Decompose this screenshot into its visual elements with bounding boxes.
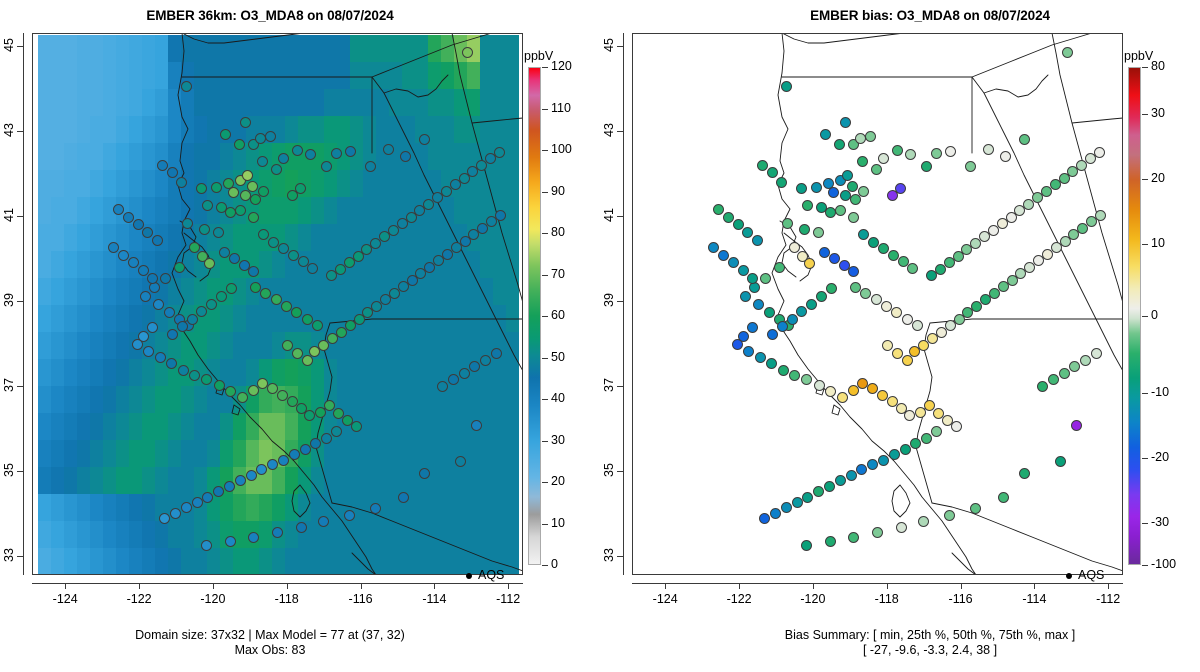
station-marker-bias [921, 161, 932, 172]
station-marker-bias [1059, 368, 1070, 379]
y-tick-label: 35 [602, 453, 616, 487]
station-marker-bias [781, 81, 792, 92]
station-marker-bias [998, 492, 1009, 503]
station-marker-bias [892, 145, 903, 156]
station-marker-bias [732, 339, 743, 350]
station-marker [256, 464, 267, 475]
station-marker [271, 294, 282, 305]
station-marker-bias [846, 470, 857, 481]
station-marker-bias [718, 250, 729, 261]
y-tick-label: 35 [2, 453, 16, 487]
colorbar-tick-label: -20 [1151, 450, 1169, 464]
colorbar-tick [542, 192, 548, 193]
station-marker-bias [902, 355, 913, 366]
colorbar-tick-label: 90 [551, 184, 565, 198]
colorbar-tick-label: 80 [1151, 59, 1165, 73]
station-marker-bias [1080, 355, 1091, 366]
station-marker [167, 329, 178, 340]
station-marker [177, 321, 188, 332]
station-marker [166, 358, 177, 369]
colorbar-tick-label: 100 [551, 142, 572, 156]
station-marker [400, 151, 411, 162]
y-tick-label: 45 [602, 28, 616, 62]
colorbar-tick [542, 524, 548, 525]
colorbar-tick-label: 60 [551, 308, 565, 322]
station-marker [225, 386, 236, 397]
colorbar-tick-label: 50 [551, 350, 565, 364]
station-marker [383, 144, 394, 155]
station-marker-bias [1095, 210, 1106, 221]
station-marker [321, 161, 332, 172]
station-marker [118, 250, 129, 261]
station-marker [235, 475, 246, 486]
colorbar-tick [1142, 393, 1148, 394]
station-marker [248, 212, 259, 223]
station-marker-bias [806, 299, 817, 310]
colorbar-tick-label: 30 [1151, 106, 1165, 120]
station-marker [345, 146, 356, 157]
station-marker-bias [1019, 468, 1030, 479]
station-marker-bias [776, 177, 787, 188]
station-marker-bias [792, 497, 803, 508]
station-marker-bias [742, 227, 753, 238]
model-map-plot[interactable] [32, 33, 523, 575]
station-marker-bias [881, 301, 892, 312]
station-marker [471, 420, 482, 431]
station-marker-bias [1037, 381, 1048, 392]
station-marker-bias [983, 144, 994, 155]
colorbar-tick [1142, 114, 1148, 115]
x-tick-label: -124 [45, 592, 85, 606]
station-marker [160, 273, 171, 284]
x-tick-label: -122 [719, 592, 759, 606]
x-tick-label: -112 [488, 592, 528, 606]
station-marker-bias [905, 149, 916, 160]
x-tick-label: -118 [867, 592, 907, 606]
station-marker [192, 497, 203, 508]
colorbar-units-label-bias: ppbV [1124, 49, 1153, 63]
station-marker-bias [848, 532, 859, 543]
station-marker-bias [747, 322, 758, 333]
station-marker-bias [813, 227, 824, 238]
station-marker [295, 183, 306, 194]
station-marker [189, 242, 200, 253]
station-marker-bias [951, 421, 962, 432]
station-marker-bias [738, 265, 749, 276]
station-marker-bias [804, 258, 815, 269]
colorbar-tick-label: 20 [1151, 171, 1165, 185]
x-tick-label: -120 [193, 592, 233, 606]
colorbar-tick-label: 30 [551, 433, 565, 447]
aqs-legend-dot-bias [1066, 573, 1072, 579]
station-marker-bias [820, 129, 831, 140]
station-marker [128, 257, 139, 268]
station-marker-bias [848, 212, 859, 223]
station-marker-bias [889, 449, 900, 460]
y-tick-label: 33 [2, 538, 16, 572]
station-marker-bias [816, 291, 827, 302]
colorbar-units-label: ppbV [524, 49, 553, 63]
station-marker-bias [865, 131, 876, 142]
station-marker [437, 381, 448, 392]
station-marker [202, 200, 213, 211]
station-marker [304, 410, 315, 421]
station-marker [271, 164, 282, 175]
station-marker-bias [814, 380, 825, 391]
station-marker-bias [835, 475, 846, 486]
model-caption-line1: Domain size: 37x32 | Max Model = 77 at (… [0, 628, 540, 643]
station-marker-bias [782, 218, 793, 229]
colorbar-tick [542, 67, 548, 68]
station-marker [123, 212, 134, 223]
colorbar-tick-label: 80 [551, 225, 565, 239]
station-marker-bias [747, 273, 758, 284]
station-marker [235, 205, 246, 216]
station-marker [159, 513, 170, 524]
station-marker-bias [825, 536, 836, 547]
station-marker-bias [757, 160, 768, 171]
station-marker-bias [778, 365, 789, 376]
x-tick-label: -118 [267, 592, 307, 606]
aqs-legend-dot [466, 573, 472, 579]
colorbar-tick [542, 358, 548, 359]
station-marker [278, 455, 289, 466]
station-marker [216, 291, 227, 302]
colorbar-tick [1142, 458, 1148, 459]
station-marker-bias [743, 346, 754, 357]
station-marker [182, 218, 193, 229]
station-marker-bias [858, 186, 869, 197]
station-marker [220, 129, 231, 140]
station-marker-bias [904, 410, 915, 421]
aqs-station-markers [32, 33, 523, 575]
colorbar-bias [1128, 67, 1141, 565]
station-marker-bias [872, 527, 883, 538]
station-marker-bias [708, 242, 719, 253]
station-marker [138, 265, 149, 276]
station-marker [201, 540, 212, 551]
station-marker-bias [1071, 420, 1082, 431]
station-marker [140, 291, 151, 302]
station-marker [240, 117, 251, 128]
colorbar-tick [1142, 523, 1148, 524]
station-marker [300, 444, 311, 455]
station-marker [292, 348, 303, 359]
colorbar-tick [1142, 67, 1148, 68]
station-marker [265, 131, 276, 142]
station-marker [229, 253, 240, 264]
station-marker-bias [811, 182, 822, 193]
colorbar-tick-label: -100 [1151, 557, 1176, 571]
station-marker [157, 160, 168, 171]
station-marker-bias [921, 433, 932, 444]
y-tick-label: 39 [2, 283, 16, 317]
station-marker [178, 365, 189, 376]
colorbar-tick-label: 70 [551, 267, 565, 281]
ember-o3-figure: EMBER 36km: O3_MDA8 on 08/07/2024 -124-1… [0, 0, 1200, 672]
model-caption-line2: Max Obs: 83 [0, 643, 540, 658]
station-marker-bias [766, 358, 777, 369]
station-marker [132, 339, 143, 350]
station-marker [155, 352, 166, 363]
bias-map-plot[interactable] [632, 33, 1123, 575]
station-marker [302, 314, 313, 325]
station-marker [201, 374, 212, 385]
station-marker [153, 299, 164, 310]
station-marker-bias [871, 294, 882, 305]
station-marker [181, 502, 192, 513]
station-marker-bias [802, 200, 813, 211]
station-marker-bias [1055, 456, 1066, 467]
aqs-legend-label: AQS [478, 568, 504, 582]
station-marker-bias [867, 459, 878, 470]
station-marker-bias [945, 146, 956, 157]
station-marker [149, 282, 160, 293]
station-marker-bias [796, 306, 807, 317]
colorbar-tick [542, 316, 548, 317]
station-marker-bias [837, 392, 848, 403]
station-marker-bias [752, 235, 763, 246]
station-marker-bias [753, 299, 764, 310]
station-marker [147, 322, 158, 333]
station-marker [365, 161, 376, 172]
station-marker-bias [723, 212, 734, 223]
station-marker-bias [713, 204, 724, 215]
station-marker-bias [891, 307, 902, 318]
y-tick-label: 37 [602, 368, 616, 402]
station-marker-bias [848, 266, 859, 277]
station-marker-bias [910, 438, 921, 449]
colorbar-tick [542, 109, 548, 110]
station-marker-bias [787, 314, 798, 325]
station-marker [307, 263, 318, 274]
station-marker [351, 421, 362, 432]
y-tick-label: 43 [602, 113, 616, 147]
y-tick-label: 45 [2, 28, 16, 62]
station-marker [237, 392, 248, 403]
colorbar-tick-label: 10 [1151, 236, 1165, 250]
station-marker [224, 481, 235, 492]
page-title: EMBER 36km: O3_MDA8 on 08/07/2024 [0, 8, 540, 23]
x-tick-label: -112 [1088, 592, 1128, 606]
page-title-bias: EMBER bias: O3_MDA8 on 08/07/2024 [660, 8, 1200, 23]
station-marker [331, 426, 342, 437]
station-marker-bias [829, 253, 840, 264]
bias-station-markers [632, 33, 1123, 575]
station-marker-bias [813, 486, 824, 497]
panel-model: EMBER 36km: O3_MDA8 on 08/07/2024 -124-1… [0, 0, 600, 672]
station-marker-bias [1094, 147, 1105, 158]
station-marker-bias [860, 288, 871, 299]
station-marker-bias [888, 250, 899, 261]
station-marker [204, 258, 215, 269]
station-marker [147, 273, 158, 284]
station-marker [321, 433, 332, 444]
station-marker-bias [834, 139, 845, 150]
colorbar-tick-label: 0 [551, 557, 558, 571]
station-marker-bias [799, 224, 810, 235]
station-marker-bias [882, 340, 893, 351]
station-marker-bias [858, 229, 869, 240]
bias-caption-line2: [ -27, -9.6, -3.3, 2.4, 38 ] [660, 643, 1200, 658]
station-marker-bias [900, 444, 911, 455]
station-marker [202, 492, 213, 503]
colorbar-tick [542, 150, 548, 151]
x-tick-label: -114 [414, 592, 454, 606]
colorbar-tick [1142, 316, 1148, 317]
station-marker [257, 156, 268, 167]
colorbar-tick [1142, 244, 1148, 245]
station-marker [167, 167, 178, 178]
station-marker [258, 229, 269, 240]
panel-bias: EMBER bias: O3_MDA8 on 08/07/2024 -124-1… [600, 0, 1200, 672]
y-tick-label: 33 [602, 538, 616, 572]
station-marker-bias [728, 257, 739, 268]
station-marker-bias [774, 262, 785, 273]
station-marker [176, 177, 187, 188]
station-marker-bias [749, 282, 760, 293]
y-tick-label: 37 [2, 368, 16, 402]
station-marker-bias [777, 321, 788, 332]
x-tick-label: -120 [793, 592, 833, 606]
station-marker-bias [912, 320, 923, 331]
station-marker-bias [767, 167, 778, 178]
station-marker-bias [878, 455, 889, 466]
station-marker [187, 314, 198, 325]
station-marker [108, 242, 119, 253]
station-marker [267, 459, 278, 470]
station-marker-bias [826, 283, 837, 294]
station-marker [250, 194, 261, 205]
station-marker-bias [825, 386, 836, 397]
station-marker-bias [789, 370, 800, 381]
colorbar-tick [1142, 565, 1148, 566]
station-marker [211, 182, 222, 193]
station-marker [214, 380, 225, 391]
station-marker [312, 320, 323, 331]
station-marker-bias [850, 194, 861, 205]
station-marker-bias [878, 153, 889, 164]
station-marker [278, 153, 289, 164]
station-marker [289, 449, 300, 460]
station-marker-bias [1000, 151, 1011, 162]
station-marker [181, 81, 192, 92]
station-marker [398, 492, 409, 503]
station-marker [113, 204, 124, 215]
station-marker-bias [1091, 348, 1102, 359]
station-marker-bias [896, 522, 907, 533]
station-marker [462, 47, 473, 58]
station-marker [234, 139, 245, 150]
station-marker [213, 486, 224, 497]
station-marker-bias [907, 263, 918, 274]
station-marker [174, 262, 185, 273]
station-marker [164, 307, 175, 318]
station-marker [455, 456, 466, 467]
station-marker-bias [801, 374, 812, 385]
station-marker-bias [902, 314, 913, 325]
station-marker-bias [781, 502, 792, 513]
station-marker [196, 306, 207, 317]
colorbar-tick [542, 482, 548, 483]
station-marker-bias [759, 513, 770, 524]
colorbar-tick [542, 399, 548, 400]
station-marker-bias [835, 205, 846, 216]
station-marker [272, 527, 283, 538]
station-marker [318, 516, 329, 527]
station-marker-bias [944, 510, 955, 521]
station-marker [258, 186, 269, 197]
colorbar-tick [1142, 179, 1148, 180]
aqs-legend-label-bias: AQS [1078, 568, 1104, 582]
station-marker-bias [970, 503, 981, 514]
station-marker [152, 235, 163, 246]
colorbar-tick-label: 40 [551, 391, 565, 405]
station-marker-bias [1062, 47, 1073, 58]
station-marker [370, 503, 381, 514]
bias-caption-line1: Bias Summary: [ min, 25th %, 50th %, 75t… [660, 628, 1200, 643]
x-tick-label: -116 [941, 592, 981, 606]
colorbar-tick-label: 20 [551, 474, 565, 488]
station-marker [331, 148, 342, 159]
y-tick-label: 41 [602, 198, 616, 232]
station-marker [228, 187, 239, 198]
colorbar-tick-label: 110 [551, 101, 571, 115]
station-marker-bias [1048, 374, 1059, 385]
station-marker [213, 227, 224, 238]
station-marker-bias [878, 243, 889, 254]
station-marker-bias [796, 183, 807, 194]
station-marker-bias [767, 329, 778, 340]
station-marker-bias [1069, 361, 1080, 372]
colorbar-tick-label: -10 [1151, 385, 1169, 399]
station-marker [302, 355, 313, 366]
station-marker [199, 224, 210, 235]
station-marker-bias [856, 464, 867, 475]
station-marker-bias [770, 508, 781, 519]
station-marker [491, 348, 502, 359]
station-marker [196, 183, 207, 194]
station-marker-bias [824, 481, 835, 492]
station-marker [344, 510, 355, 521]
station-marker [419, 134, 430, 145]
colorbar-tick [542, 565, 548, 566]
station-marker [246, 470, 257, 481]
station-marker [143, 346, 154, 357]
station-marker [278, 243, 289, 254]
y-tick-label: 39 [602, 283, 616, 317]
x-tick-label: -122 [119, 592, 159, 606]
colorbar-tick [542, 275, 548, 276]
station-marker [291, 307, 302, 318]
colorbar-tick-label: 120 [551, 59, 572, 73]
station-marker [226, 283, 237, 294]
station-marker [206, 299, 217, 310]
station-marker [260, 288, 271, 299]
station-marker [225, 536, 236, 547]
x-tick-label: -114 [1014, 592, 1054, 606]
station-marker [288, 250, 299, 261]
station-marker [189, 370, 200, 381]
y-tick-label: 43 [2, 113, 16, 147]
station-marker-bias [918, 516, 929, 527]
station-marker-bias [828, 187, 839, 198]
colorbar-model [528, 67, 541, 565]
station-marker [170, 508, 181, 519]
x-tick-label: -124 [645, 592, 685, 606]
station-marker [296, 522, 307, 533]
station-marker-bias [802, 492, 813, 503]
